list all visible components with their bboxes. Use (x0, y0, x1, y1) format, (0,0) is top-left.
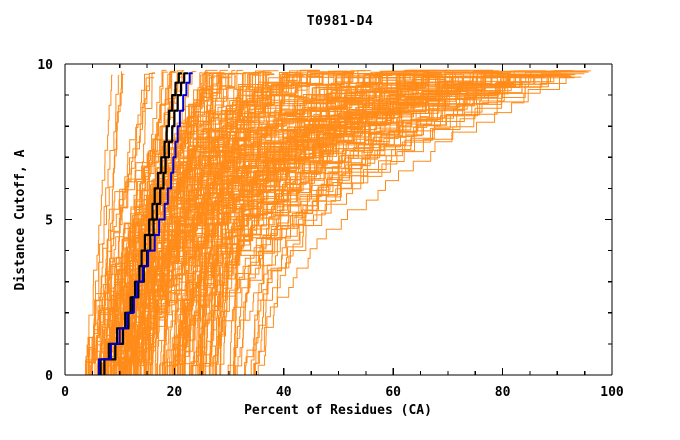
x-axis-label: Percent of Residues (CA) (244, 403, 432, 418)
x-tick-label: 100 (600, 385, 624, 400)
curves-layer (86, 70, 591, 375)
x-tick-label: 40 (276, 385, 292, 400)
plot-canvas: 0204060801000510 Percent of Residues (CA… (0, 0, 680, 440)
x-tick-label: 60 (385, 385, 401, 400)
x-tick-label: 20 (167, 385, 183, 400)
x-tick-label: 0 (61, 385, 69, 400)
y-tick-label: 0 (45, 369, 53, 384)
chart-page: T0981-D4 0204060801000510 Percent of Res… (0, 0, 680, 440)
y-tick-label: 10 (37, 58, 53, 73)
x-tick-label: 80 (495, 385, 511, 400)
y-axis-label: Distance Cutoff, A (13, 149, 28, 290)
y-tick-label: 5 (45, 214, 53, 229)
